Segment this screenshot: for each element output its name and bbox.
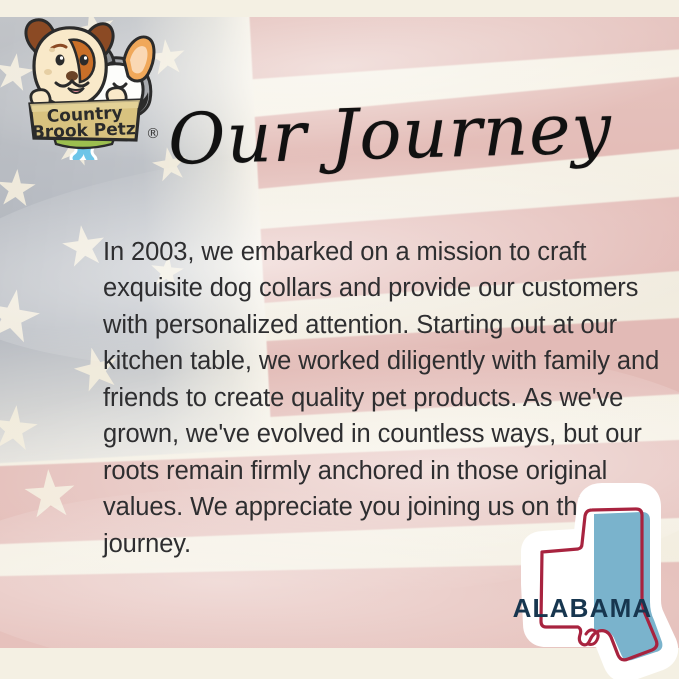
- logo-banner: Country Brook Petz: [30, 100, 140, 143]
- country-brook-petz-logo[interactable]: Country Brook Petz ®: [8, 8, 160, 160]
- page-title: Our Journey: [167, 93, 613, 175]
- logo-line-2: Brook Petz: [32, 119, 137, 143]
- our-journey-banner: Country Brook Petz ® Our Journey In 2003…: [0, 0, 679, 679]
- alabama-state-sticker[interactable]: ALABAMA: [490, 492, 675, 677]
- registered-trademark-icon: ®: [146, 126, 160, 142]
